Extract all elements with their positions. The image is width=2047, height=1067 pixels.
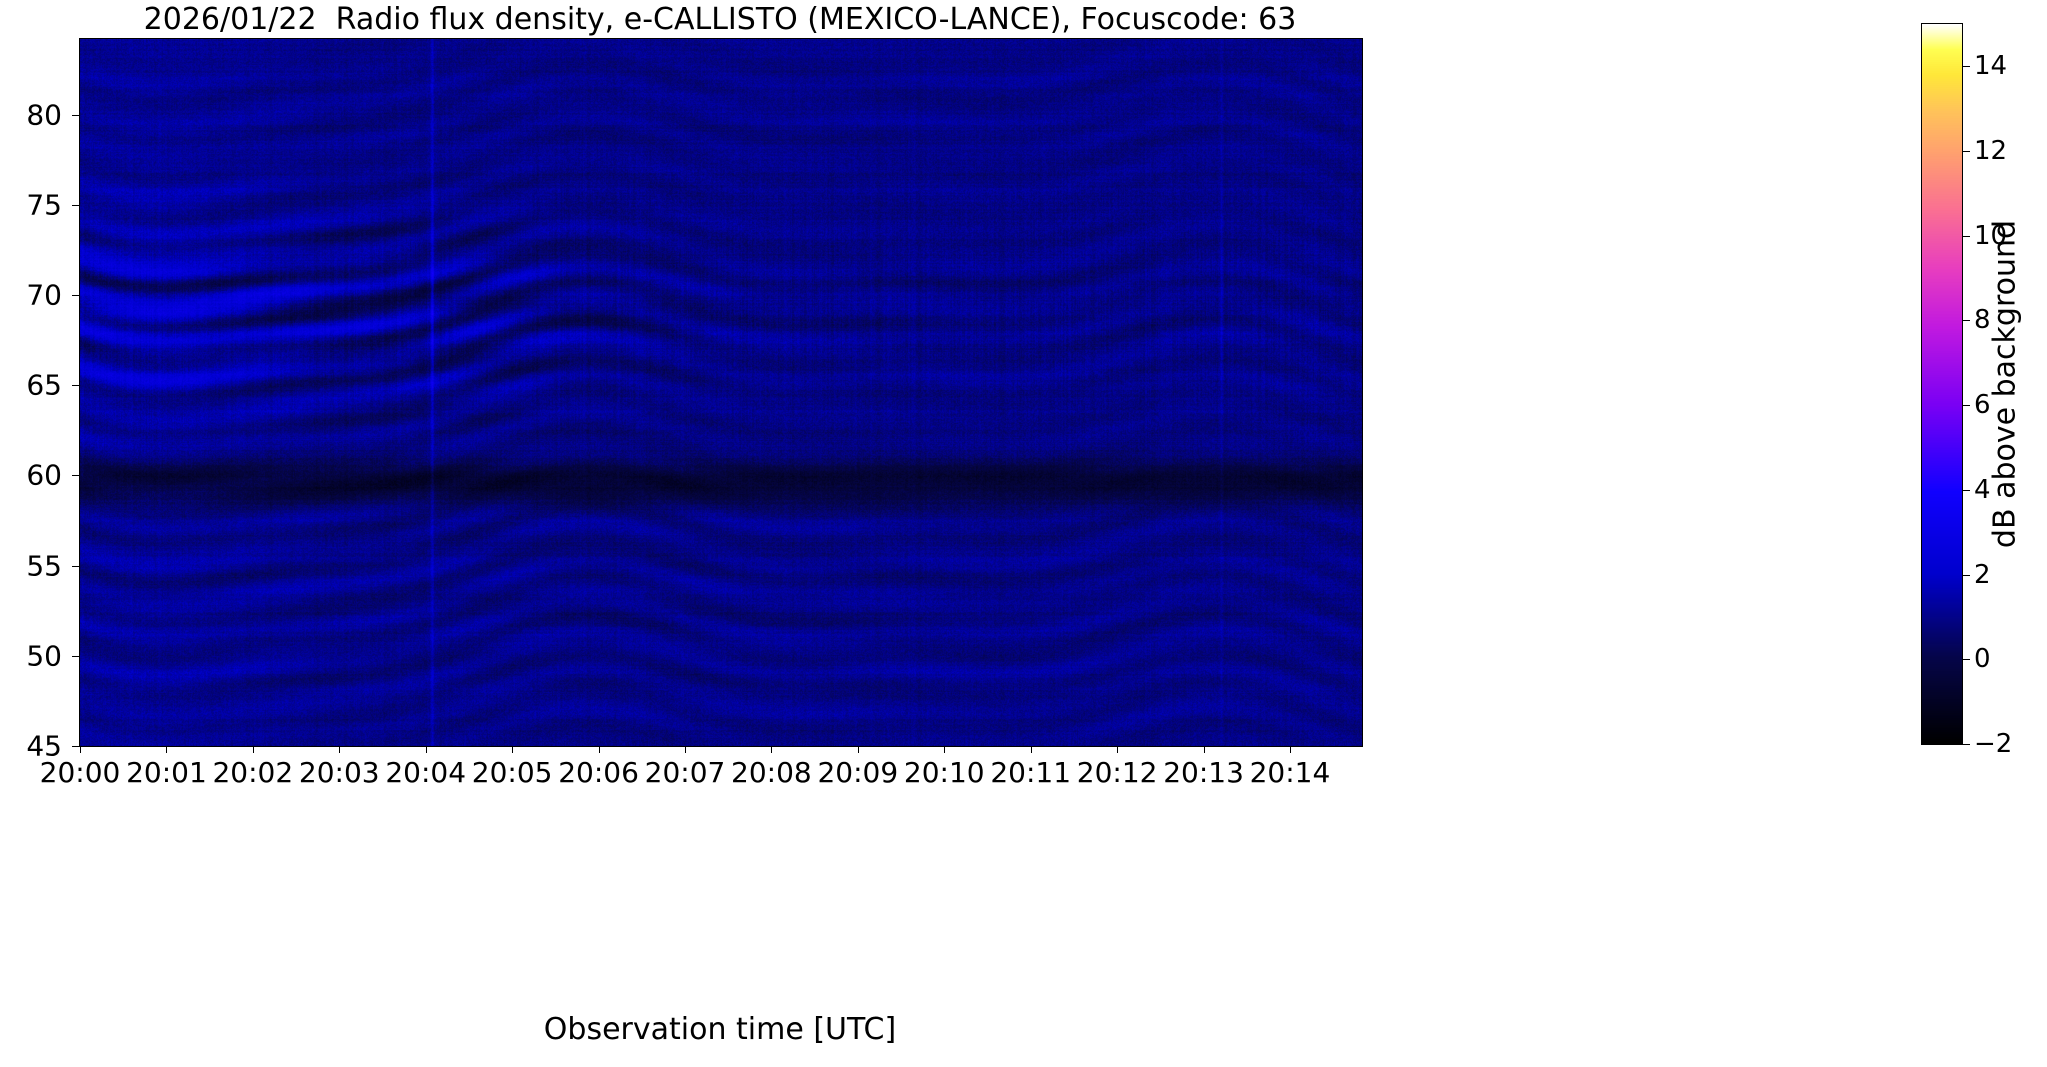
colorbar-tick-mark [1963, 744, 1970, 745]
colorbar-label: dB above background [1988, 220, 2023, 548]
x-tick-label: 20:08 [731, 756, 812, 789]
x-tick-mark [166, 746, 167, 753]
y-tick-mark [72, 385, 79, 386]
y-tick-label: 50 [0, 639, 62, 672]
colorbar-tick-mark [1963, 236, 1970, 237]
x-tick-label: 20:02 [212, 756, 293, 789]
x-tick-mark [944, 746, 945, 753]
x-tick-mark [253, 746, 254, 753]
y-tick-label: 65 [0, 369, 62, 402]
figure-title: 2026/01/22 Radio flux density, e-CALLIST… [79, 2, 1361, 38]
colorbar-tick-mark [1963, 320, 1970, 321]
x-tick-mark [599, 746, 600, 753]
y-tick-mark [72, 656, 79, 657]
colorbar-tick-mark [1963, 66, 1970, 67]
y-tick-label: 75 [0, 188, 62, 221]
x-tick-label: 20:10 [904, 756, 985, 789]
x-tick-mark [512, 746, 513, 753]
x-tick-label: 20:00 [40, 756, 121, 789]
colorbar-tick-mark [1963, 490, 1970, 491]
x-tick-mark [1031, 746, 1032, 753]
spectrogram-image [80, 39, 1362, 746]
x-tick-label: 20:06 [558, 756, 639, 789]
colorbar-tick-label: 12 [1974, 136, 2007, 166]
y-tick-mark [72, 295, 79, 296]
y-tick-mark [72, 475, 79, 476]
x-tick-mark [1290, 746, 1291, 753]
x-tick-label: 20:09 [817, 756, 898, 789]
x-tick-label: 20:14 [1250, 756, 1331, 789]
colorbar-container[interactable]: −202468101214 [1921, 23, 1963, 745]
x-tick-label: 20:03 [299, 756, 380, 789]
y-tick-mark [72, 205, 79, 206]
y-tick-mark [72, 115, 79, 116]
colorbar-tick-mark [1963, 405, 1970, 406]
x-tick-mark [80, 746, 81, 753]
x-tick-mark [858, 746, 859, 753]
spectrogram-figure: 2026/01/22 Radio flux density, e-CALLIST… [0, 0, 2047, 1067]
colorbar-tick-label: 14 [1974, 51, 2007, 81]
x-tick-label: 20:07 [645, 756, 726, 789]
x-tick-label: 20:05 [472, 756, 553, 789]
x-tick-mark [1204, 746, 1205, 753]
x-tick-label: 20:01 [126, 756, 207, 789]
colorbar-tick-mark [1963, 575, 1970, 576]
x-tick-mark [426, 746, 427, 753]
x-tick-label: 20:13 [1163, 756, 1244, 789]
y-tick-label: 60 [0, 459, 62, 492]
y-tick-label: 80 [0, 98, 62, 131]
y-tick-mark [72, 746, 79, 747]
y-tick-mark [72, 566, 79, 567]
x-tick-label: 20:12 [1077, 756, 1158, 789]
colorbar-gradient [1921, 23, 1963, 745]
x-tick-mark [685, 746, 686, 753]
colorbar-tick-mark [1963, 659, 1970, 660]
x-tick-mark [339, 746, 340, 753]
colorbar-tick-label: −2 [1974, 729, 2012, 759]
x-tick-mark [1117, 746, 1118, 753]
colorbar-tick-label: 2 [1974, 560, 1991, 590]
x-tick-label: 20:11 [990, 756, 1071, 789]
colorbar-tick-label: 0 [1974, 644, 1991, 674]
x-tick-mark [771, 746, 772, 753]
y-tick-label: 55 [0, 549, 62, 582]
spectrogram-axes[interactable] [79, 38, 1363, 747]
colorbar-tick-mark [1963, 151, 1970, 152]
x-axis-label: Observation time [UTC] [79, 1012, 1361, 1047]
y-tick-label: 70 [0, 279, 62, 312]
x-tick-label: 20:04 [385, 756, 466, 789]
